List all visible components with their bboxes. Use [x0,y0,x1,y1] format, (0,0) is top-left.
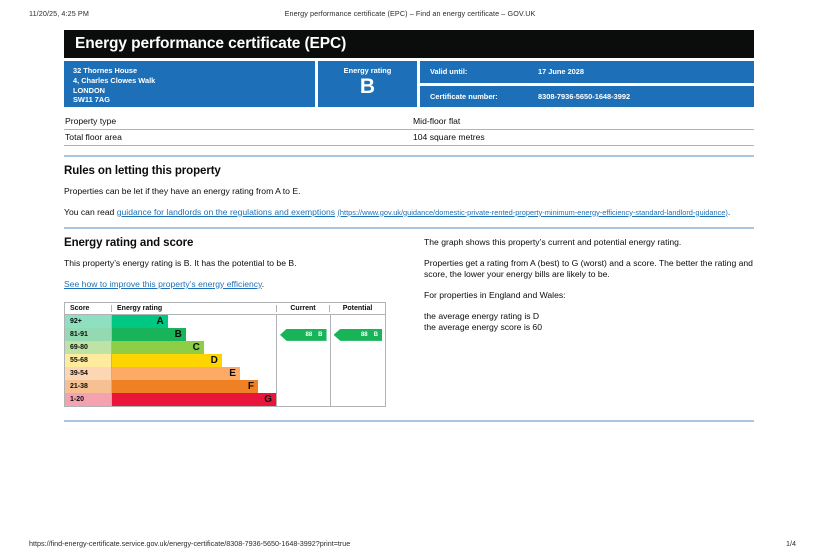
epc-band-row: 21-38F [65,380,276,393]
certificate-number-value: 8308-7936-5650-1648-3992 [538,92,630,101]
epc-col-score: Score [65,305,111,312]
epc-band-row: 55-68D [65,354,276,367]
certificate-number-row: Certificate number: 8308-7936-5650-1648-… [420,86,754,108]
epc-col-energy-rating: Energy rating [111,305,276,312]
property-type-value: Mid-floor flat [413,116,460,126]
valid-until-label: Valid until: [430,67,538,76]
epc-band-bar-cell: A [111,315,276,328]
certificate-sheet: Energy performance certificate (EPC) 32 … [64,30,754,422]
epc-band-bar: A [112,315,168,328]
energy-rating-badge: Energy rating B [318,61,417,107]
epc-graph-body: 92+A81-91B69-80C55-68D39-54E21-38F1-20G … [65,315,385,406]
improve-efficiency-link[interactable]: See how to improve this property’s energ… [64,279,262,289]
rating-paragraph: This property’s energy rating is B. It h… [64,258,394,270]
epc-potential-arrow-band: B [374,332,378,338]
page-title: Energy performance certificate (EPC) [75,35,346,53]
property-details-table: Property type Mid-floor flat Total floor… [64,114,754,146]
epc-band-list: 92+A81-91B69-80C55-68D39-54E21-38F1-20G [65,315,276,406]
certificate-meta: Valid until: 17 June 2028 Certificate nu… [420,61,754,107]
epc-current-column: 88B [277,315,330,406]
address-line-3: LONDON [73,86,307,96]
epc-band-row: 39-54E [65,367,276,380]
property-type-label: Property type [65,116,413,126]
epc-band-bar: G [112,393,276,406]
epc-band-score-range: 69-80 [65,341,111,354]
epc-band-score-range: 21-38 [65,380,111,393]
improve-link-paragraph: See how to improve this property’s energ… [64,279,394,291]
section-divider [64,227,754,229]
epc-band-score-range: 92+ [65,315,111,328]
epc-potential-arrow-score: 88 [361,332,368,338]
epc-potential-arrow: 88B [334,329,382,341]
certificate-summary: 32 Thornes House 4, Charles Clowes Walk … [64,61,754,107]
rating-and-score-section: Energy rating and score This property’s … [64,237,754,407]
total-floor-area-value: 104 square metres [413,132,485,142]
epc-arrow-columns: 88B 88B [276,315,385,406]
epc-col-potential: Potential [329,305,385,312]
certificate-number-label: Certificate number: [430,92,538,101]
epc-band-bar-cell: C [111,341,276,354]
epc-band-bar-cell: B [111,328,276,341]
epc-band-row: 69-80C [65,341,276,354]
explainer-bold-lead: Properties get a rating from A (best) to… [424,258,657,268]
explainer-averages: the average energy rating is D the avera… [424,311,754,334]
epc-band-bar: E [112,367,240,380]
epc-band-row: 92+A [65,315,276,328]
explainer-graph-text: The graph shows this property’s current … [424,237,754,249]
energy-rating-label: Energy rating [318,66,417,75]
epc-current-arrow-score: 88 [305,332,312,338]
explainer-region-label: For properties in England and Wales: [424,290,754,302]
average-energy-score: the average energy score is 60 [424,322,542,332]
epc-band-bar-cell: G [111,393,276,406]
improve-link-suffix: . [262,279,264,289]
rules-paragraph: Properties can be let if they have an en… [64,186,754,198]
average-energy-rating: the average energy rating is D [424,311,539,321]
epc-band-score-range: 1-20 [65,393,111,406]
epc-col-current: Current [276,305,329,312]
epc-band-row: 81-91B [65,328,276,341]
rating-heading: Energy rating and score [64,237,394,249]
epc-band-bar-cell: E [111,367,276,380]
epc-band-bar: B [112,328,186,341]
epc-potential-column: 88B [330,315,385,406]
section-divider [64,420,754,422]
print-page-title: Energy performance certificate (EPC) – F… [0,9,820,18]
rules-link-paragraph: You can read guidance for landlords on t… [64,207,754,219]
epc-band-bar: F [112,380,258,393]
explainer-rating-scale-text: Properties get a rating from A (best) to… [424,258,754,281]
epc-current-arrow: 88B [280,329,327,341]
epc-rating-graph: Score Energy rating Current Potential 92… [64,302,386,407]
table-row: Total floor area 104 square metres [64,130,754,146]
energy-rating-value: B [318,76,417,98]
rules-link-suffix: . [728,207,730,217]
section-divider [64,155,754,157]
address-line-1: 32 Thornes House [73,66,307,76]
address-line-2: 4, Charles Clowes Walk [73,76,307,86]
epc-band-bar-cell: D [111,354,276,367]
epc-band-score-range: 81-91 [65,328,111,341]
valid-until-row: Valid until: 17 June 2028 [420,61,754,83]
property-address: 32 Thornes House 4, Charles Clowes Walk … [64,61,315,107]
epc-current-arrow-band: B [318,332,322,338]
landlord-guidance-link[interactable]: guidance for landlords on the regulation… [117,207,335,217]
valid-until-value: 17 June 2028 [538,67,584,76]
epc-band-row: 1-20G [65,393,276,406]
epc-band-bar: D [112,354,222,367]
rules-link-prefix: You can read [64,207,117,217]
epc-band-score-range: 55-68 [65,354,111,367]
epc-band-bar-cell: F [111,380,276,393]
certificate-title-bar: Energy performance certificate (EPC) [64,30,754,58]
epc-band-score-range: 39-54 [65,367,111,380]
landlord-guidance-url[interactable]: (https://www.gov.uk/guidance/domestic-pr… [337,208,727,217]
epc-graph-header: Score Energy rating Current Potential [65,303,385,315]
total-floor-area-label: Total floor area [65,132,413,142]
table-row: Property type Mid-floor flat [64,114,754,130]
rating-left-column: Energy rating and score This property’s … [64,237,394,407]
rating-right-column: The graph shows this property’s current … [424,237,754,407]
rules-heading: Rules on letting this property [64,165,754,177]
address-postcode: SW11 7AG [73,95,307,105]
epc-band-bar: C [112,341,204,354]
